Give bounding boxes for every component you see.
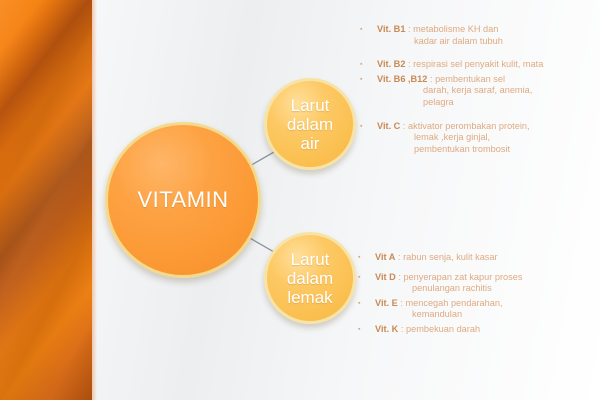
slide-canvas: VITAMIN Larut dalam air Larut dalam lema… <box>0 0 600 400</box>
bullet-vit-k: Vit. K : pembekuan darah <box>356 324 600 336</box>
node-larut-dalam-air[interactable]: Larut dalam air <box>264 78 356 170</box>
bullet-vit-d-label: Vit D <box>375 272 396 282</box>
bullet-vit-b6-b12-cont-1: darah, kerja saraf, anemia, <box>377 85 600 97</box>
bullet-vit-k-label: Vit. K <box>375 324 398 334</box>
bullet-vit-c: Vit. C : aktivator perombakan protein, l… <box>358 121 600 156</box>
bullet-vit-e-cont-1: kemandulan <box>375 309 600 321</box>
bullet-vit-k-sep: : <box>398 324 406 334</box>
water-soluble-vitamin-list: Vit. B1 : metabolisme KH dan kadar air d… <box>358 24 600 156</box>
bullet-vit-a-text: rabun senja, kulit kasar <box>403 252 497 262</box>
bullet-vit-a: Vit A : rabun senja, kulit kasar <box>356 252 600 264</box>
bullet-vit-b6-b12-sep: : <box>427 74 435 84</box>
bullet-vit-k-text: pembekuan darah <box>406 324 480 334</box>
bullet-vit-c-label: Vit. C <box>377 121 400 131</box>
bullet-vit-c-text: aktivator perombakan protein, <box>408 121 530 131</box>
bullet-vit-b1-text: metabolisme KH dan <box>413 24 498 34</box>
bullet-vit-c-cont-1: lemak ,kerja ginjal, <box>377 132 600 144</box>
bullet-vit-d-cont-1: penulangan rachitis <box>375 283 600 295</box>
bullet-vit-c-sep: : <box>400 121 408 131</box>
bullet-vit-d: Vit D : penyerapan zat kapur proses penu… <box>356 272 600 295</box>
bullet-vit-d-text: penyerapan zat kapur proses <box>403 272 522 282</box>
bullet-vit-b2: Vit. B2 : respirasi sel penyakit kulit, … <box>358 59 600 71</box>
bullet-vit-e-text: mencegah pendarahan, <box>405 298 502 308</box>
node-larut-dalam-air-label: Larut dalam air <box>287 96 333 153</box>
bullet-vit-e: Vit. E : mencegah pendarahan, kemandulan <box>356 298 600 321</box>
bullet-vit-a-sep: : <box>395 252 403 262</box>
node-vitamin-label: VITAMIN <box>137 187 228 213</box>
bullet-vit-b1-cont-1: kadar air dalam tubuh <box>377 36 600 48</box>
bullet-vit-b1: Vit. B1 : metabolisme KH dan kadar air d… <box>358 24 600 47</box>
fat-soluble-vitamin-list: Vit A : rabun senja, kulit kasar Vit D :… <box>356 252 600 337</box>
bullet-vit-c-cont-2: pembentukan trombosit <box>377 144 600 156</box>
bullet-vit-b6-b12-cont-2: pelagra <box>377 97 600 109</box>
bullet-vit-b6-b12: Vit. B6 ,B12 : pembentukan sel darah, ke… <box>358 74 600 109</box>
bullet-vit-a-label: Vit A <box>375 252 395 262</box>
node-larut-dalam-lemak-label: Larut dalam lemak <box>287 250 333 307</box>
bullet-vit-b1-label: Vit. B1 <box>377 24 405 34</box>
bullet-vit-b6-b12-label: Vit. B6 ,B12 <box>377 74 427 84</box>
bullet-vit-e-label: Vit. E <box>375 298 398 308</box>
node-vitamin[interactable]: VITAMIN <box>105 122 261 278</box>
bullet-vit-b1-sep: : <box>405 24 413 34</box>
bullet-vit-b2-text: respirasi sel penyakit kulit, mata <box>413 59 543 69</box>
bullet-vit-b2-sep: : <box>405 59 413 69</box>
bullet-vit-b6-b12-text: pembentukan sel <box>435 74 505 84</box>
node-larut-dalam-lemak[interactable]: Larut dalam lemak <box>264 232 356 324</box>
bullet-vit-b2-label: Vit. B2 <box>377 59 405 69</box>
